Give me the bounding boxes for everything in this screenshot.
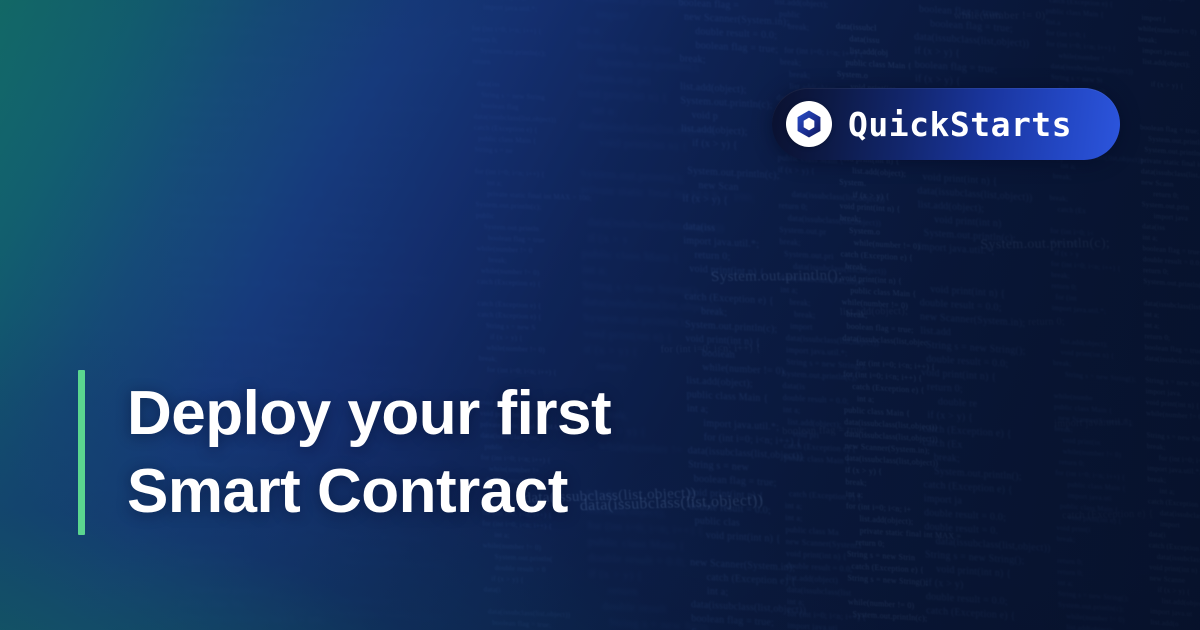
- title-line-1: Deploy your first: [127, 375, 611, 453]
- banner-root: while(number != 0) data(issubclass(list,…: [0, 0, 1200, 630]
- badge-label: QuickStarts: [848, 108, 1072, 141]
- page-title: Deploy your first Smart Contract: [127, 370, 611, 535]
- title-line-2: Smart Contract: [127, 453, 611, 531]
- quickstarts-badge[interactable]: QuickStarts: [772, 88, 1120, 160]
- chainlink-logo: [786, 101, 832, 147]
- headline-block: Deploy your first Smart Contract: [78, 370, 611, 535]
- accent-bar: [78, 370, 85, 535]
- chainlink-hexagon-icon: [794, 109, 824, 139]
